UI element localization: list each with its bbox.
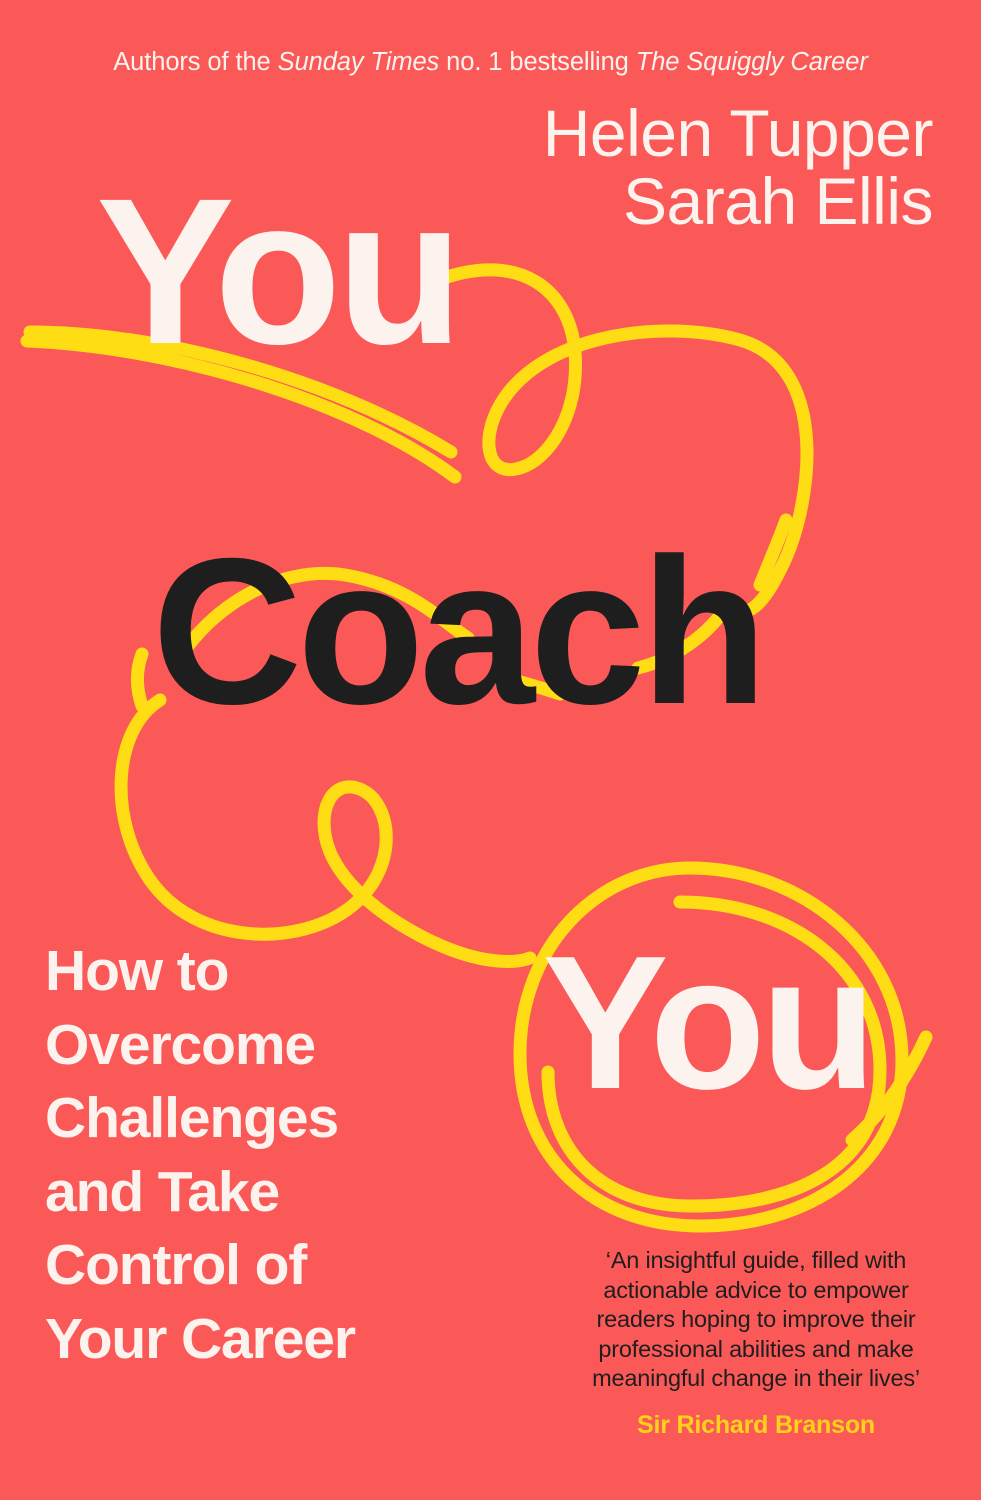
blurb-line-2: actionable advice to empower	[556, 1276, 956, 1306]
subtitle-line-5: Control of	[45, 1229, 355, 1303]
blurb-line-1: ‘An insightful guide, filled with	[556, 1246, 956, 1276]
blurb-line-4: professional abilities and make	[556, 1335, 956, 1365]
blurb-attribution: Sir Richard Branson	[556, 1411, 956, 1440]
strapline-part-2: no. 1 bestselling	[439, 48, 636, 76]
author-name-1: Helen Tupper	[543, 100, 933, 168]
strapline-italic-sunday-times: Sunday Times	[278, 48, 440, 76]
subtitle: How to Overcome Challenges and Take Cont…	[45, 935, 355, 1376]
strapline: Authors of the Sunday Times no. 1 bestse…	[0, 48, 981, 77]
blurb-line-3: readers hoping to improve their	[556, 1305, 956, 1335]
subtitle-line-2: Overcome	[45, 1009, 355, 1083]
subtitle-line-1: How to	[45, 935, 355, 1009]
review-blurb: ‘An insightful guide, filled with action…	[556, 1246, 956, 1394]
strapline-italic-squiggly-career: The Squiggly Career	[636, 48, 868, 76]
blurb-line-5: meaningful change in their lives’	[556, 1364, 956, 1394]
author-names: Helen Tupper Sarah Ellis	[543, 100, 933, 236]
subtitle-line-3: Challenges	[45, 1082, 355, 1156]
subtitle-line-4: and Take	[45, 1156, 355, 1230]
author-name-2: Sarah Ellis	[543, 168, 933, 236]
title-word-you-second: You	[542, 928, 872, 1118]
subtitle-line-6: Your Career	[45, 1303, 355, 1377]
title-word-coach: Coach	[152, 528, 763, 736]
strapline-part-1: Authors of the	[113, 48, 277, 76]
book-cover: Authors of the Sunday Times no. 1 bestse…	[0, 0, 981, 1500]
cover-text-layer: Authors of the Sunday Times no. 1 bestse…	[0, 0, 981, 1500]
title-word-you-first: You	[96, 168, 458, 376]
